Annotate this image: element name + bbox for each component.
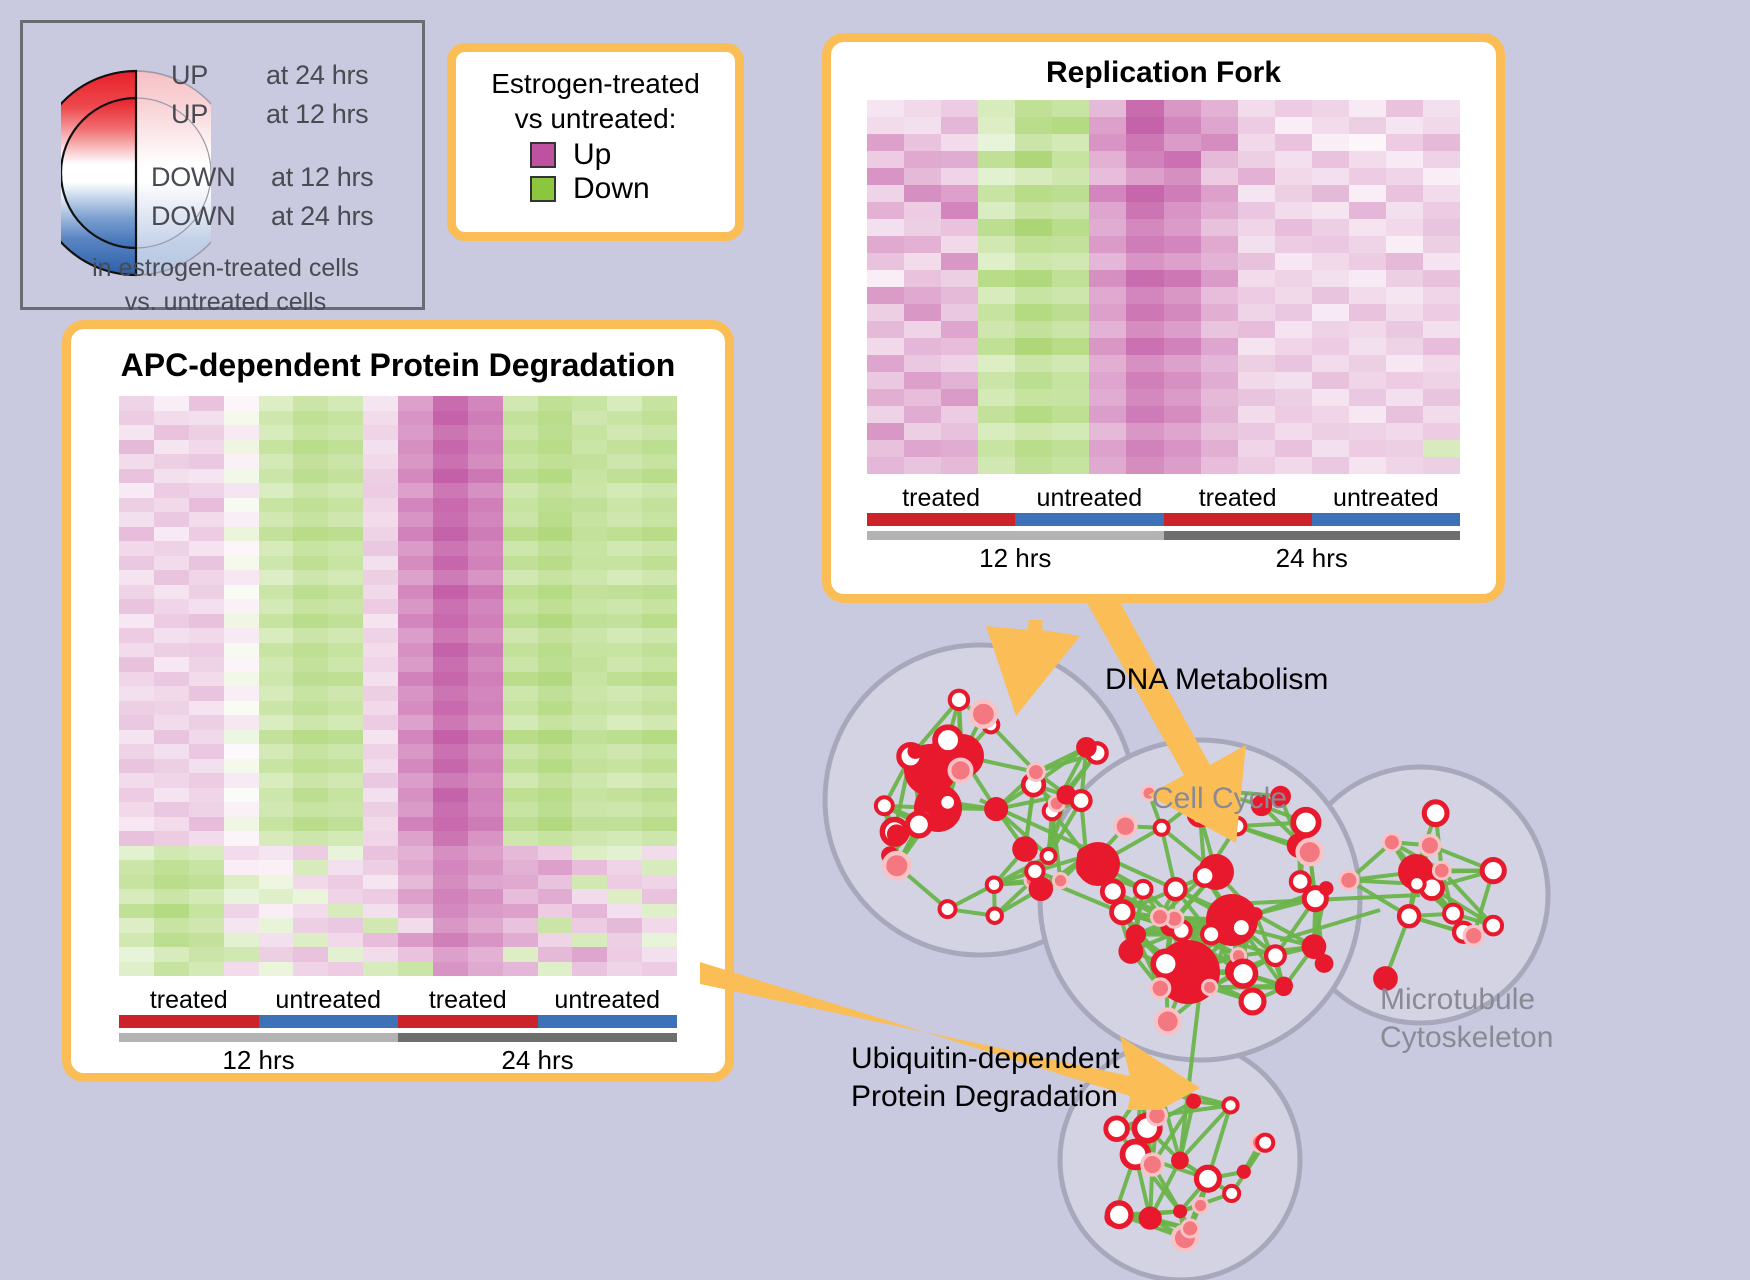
heatmap-cell — [1164, 253, 1201, 270]
network-node[interactable] — [1340, 871, 1358, 889]
network-node[interactable] — [876, 797, 893, 814]
heatmap-cell — [398, 556, 433, 571]
heatmap-cell — [503, 556, 538, 571]
heatmap-cell — [867, 168, 904, 185]
network-node[interactable] — [1166, 879, 1186, 899]
heatmap-cell — [363, 715, 398, 730]
network-node-circle[interactable] — [1182, 1220, 1199, 1237]
network-node-circle[interactable] — [988, 908, 1002, 922]
network-node[interactable] — [1196, 1167, 1219, 1190]
heatmap-cell — [468, 672, 503, 687]
heatmap-row — [119, 425, 677, 440]
heatmap-cell — [224, 962, 259, 977]
heatmap-cell — [398, 396, 433, 411]
heatmap-cell — [1423, 236, 1460, 253]
network-node[interactable] — [1053, 874, 1067, 888]
heatmap-cell — [1275, 134, 1312, 151]
heatmap-cell — [978, 151, 1015, 168]
network-node[interactable] — [1026, 863, 1043, 880]
network-node-circle[interactable] — [1166, 879, 1186, 899]
heatmap-cell — [398, 469, 433, 484]
heatmap-apc-degradation — [119, 396, 677, 976]
heatmap-cell — [978, 202, 1015, 219]
network-node[interactable] — [1139, 1207, 1162, 1230]
group-bar-treated — [398, 1015, 538, 1028]
heatmap-cell — [572, 701, 607, 716]
heatmap-cell — [398, 889, 433, 904]
heatmap-cell — [293, 440, 328, 455]
heatmap-cell — [941, 185, 978, 202]
network-node-circle[interactable] — [1424, 802, 1447, 825]
network-node-circle[interactable] — [1135, 881, 1152, 898]
heatmap-cell — [941, 355, 978, 372]
heatmap-cell — [119, 947, 154, 962]
heatmap-cell — [154, 846, 189, 861]
network-node-circle[interactable] — [1291, 872, 1310, 891]
heatmap-cell — [468, 788, 503, 803]
heatmap-cell — [468, 469, 503, 484]
heatmap-cell — [293, 773, 328, 788]
network-node-circle[interactable] — [1319, 881, 1334, 896]
network-node[interactable] — [1266, 946, 1285, 965]
heatmap-cell — [1089, 202, 1126, 219]
heatmap-cell — [328, 933, 363, 948]
heatmap-cell — [433, 628, 468, 643]
heatmap-cell — [1312, 168, 1349, 185]
network-node[interactable] — [1383, 834, 1400, 851]
heatmap-cell — [293, 628, 328, 643]
heatmap-cell — [1015, 134, 1052, 151]
network-node[interactable] — [1464, 926, 1483, 945]
heatmap-cell — [1089, 440, 1126, 457]
network-node[interactable] — [1224, 1186, 1239, 1201]
network-node[interactable] — [1102, 881, 1123, 902]
network-node-circle[interactable] — [1053, 874, 1067, 888]
network-node[interactable] — [907, 813, 930, 836]
heatmap-cell — [1312, 134, 1349, 151]
heatmap-cell — [607, 904, 642, 919]
network-node[interactable] — [1195, 866, 1215, 886]
heatmap-cell — [904, 117, 941, 134]
heatmap-cell — [978, 236, 1015, 253]
heatmap-cell — [433, 396, 468, 411]
heatmap-cell — [398, 585, 433, 600]
network-node-circle[interactable] — [1266, 946, 1285, 965]
network-node[interactable] — [1302, 934, 1327, 959]
heatmap-cell — [1052, 389, 1089, 406]
network-node[interactable] — [1248, 907, 1262, 921]
heatmap-cell — [154, 904, 189, 919]
key-time-up-24: at 24 hrs — [266, 60, 368, 91]
heatmap-cell — [1126, 117, 1163, 134]
heatmap-cell — [468, 628, 503, 643]
heatmap-cell — [293, 512, 328, 527]
heatmap-cell — [1164, 440, 1201, 457]
heatmap-cell — [224, 570, 259, 585]
heatmap-cell — [398, 744, 433, 759]
heatmap-cell — [572, 759, 607, 774]
network-node[interactable] — [950, 759, 972, 781]
heatmap-cell — [1201, 372, 1238, 389]
heatmap-cell — [1015, 338, 1052, 355]
heatmap-cell — [1126, 253, 1163, 270]
apc-time-bars — [119, 1033, 677, 1042]
heatmap-cell — [642, 686, 677, 701]
heatmap-cell — [189, 947, 224, 962]
group-bar-untreated — [1015, 513, 1163, 526]
heatmap-cell — [119, 846, 154, 861]
heatmap-cell — [538, 541, 573, 556]
network-node-circle[interactable] — [1433, 862, 1450, 879]
heatmap-cell — [259, 614, 294, 629]
network-node[interactable] — [1291, 872, 1310, 891]
network-node-circle[interactable] — [1409, 876, 1424, 891]
heatmap-cell — [224, 440, 259, 455]
heatmap-cell — [328, 498, 363, 513]
heatmap-cell — [1201, 423, 1238, 440]
network-node-circle[interactable] — [1076, 859, 1095, 878]
heatmap-cell — [1386, 202, 1423, 219]
network-node[interactable] — [1484, 917, 1502, 935]
network-node[interactable] — [940, 901, 956, 917]
heatmap-cell — [224, 599, 259, 614]
network-node-circle[interactable] — [907, 813, 930, 836]
network-node-circle[interactable] — [1195, 866, 1215, 886]
network-node-circle[interactable] — [1193, 1198, 1207, 1212]
network-node[interactable] — [1420, 836, 1440, 856]
network-node[interactable] — [1171, 1152, 1189, 1170]
heatmap-cell — [293, 643, 328, 658]
apc-group-labels: treateduntreatedtreateduntreated — [119, 986, 677, 1015]
network-node-circle[interactable] — [1171, 1152, 1189, 1170]
heatmap-cell — [1423, 151, 1460, 168]
heatmap-cell — [293, 831, 328, 846]
heatmap-cell — [328, 730, 363, 745]
network-node[interactable] — [884, 853, 909, 878]
heatmap-cell — [468, 541, 503, 556]
heatmap-cell — [642, 672, 677, 687]
heatmap-cell — [189, 527, 224, 542]
heatmap-cell — [363, 918, 398, 933]
network-node[interactable] — [1135, 881, 1152, 898]
network-node[interactable] — [1409, 876, 1424, 891]
heatmap-cell — [119, 585, 154, 600]
heatmap-cell — [572, 599, 607, 614]
heatmap-cell — [538, 527, 573, 542]
network-node-circle[interactable] — [950, 759, 972, 781]
heatmap-cell — [119, 672, 154, 687]
heatmap-row — [867, 440, 1460, 457]
network-node-circle[interactable] — [939, 794, 956, 811]
network-node-circle[interactable] — [987, 877, 1002, 892]
heatmap-cell — [189, 570, 224, 585]
heatmap-cell — [1052, 270, 1089, 287]
heatmap-cell — [259, 875, 294, 890]
heatmap-cell — [642, 817, 677, 832]
network-node-circle[interactable] — [1142, 1154, 1163, 1175]
network-node[interactable] — [907, 743, 923, 759]
network-node[interactable] — [1152, 908, 1169, 925]
heatmap-cell — [189, 483, 224, 498]
network-node-circle[interactable] — [884, 853, 909, 878]
heatmap-cell — [433, 527, 468, 542]
heatmap-cell — [468, 440, 503, 455]
heatmap-cell — [1052, 151, 1089, 168]
heatmap-cell — [1312, 321, 1349, 338]
heatmap-cell — [398, 846, 433, 861]
heatmap-cell — [1386, 134, 1423, 151]
heatmap-cell — [468, 889, 503, 904]
network-node[interactable] — [971, 701, 996, 726]
network-node[interactable] — [988, 908, 1002, 922]
heatmap-cell — [1089, 185, 1126, 202]
heatmap-cell — [468, 875, 503, 890]
heatmap-cell — [1275, 270, 1312, 287]
heatmap-cell — [224, 918, 259, 933]
heatmap-row — [867, 117, 1460, 134]
heatmap-cell — [154, 396, 189, 411]
heatmap-cell — [607, 918, 642, 933]
network-node[interactable] — [1107, 1203, 1131, 1227]
heatmap-cell — [1275, 372, 1312, 389]
network-node[interactable] — [935, 727, 961, 753]
network-node[interactable] — [1433, 862, 1450, 879]
heatmap-cell — [572, 411, 607, 426]
heatmap-cell — [1238, 100, 1275, 117]
network-node[interactable] — [1444, 905, 1462, 923]
heatmap-cell — [328, 599, 363, 614]
heatmap-cell — [189, 425, 224, 440]
heatmap-cell — [468, 904, 503, 919]
heatmap-cell — [328, 817, 363, 832]
heatmap-cell — [538, 701, 573, 716]
network-node-circle[interactable] — [1107, 1203, 1131, 1227]
heatmap-cell — [363, 411, 398, 426]
network-node-circle[interactable] — [1302, 934, 1327, 959]
heatmap-cell — [867, 100, 904, 117]
network-node-circle[interactable] — [1112, 901, 1133, 922]
color-key-footer-line1: in estrogen-treated cells — [23, 251, 428, 285]
heatmap-cell — [398, 541, 433, 556]
heatmap-cell — [433, 904, 468, 919]
heatmap-cell — [904, 457, 941, 474]
heatmap-cell — [867, 236, 904, 253]
network-node-circle[interactable] — [1196, 1167, 1219, 1190]
heatmap-cell — [1238, 134, 1275, 151]
heatmap-cell — [1201, 134, 1238, 151]
heatmap-row — [119, 556, 677, 571]
network-node[interactable] — [1257, 1135, 1273, 1151]
estrogen-legend-box: Estrogen-treated vs untreated: Up Down — [447, 43, 744, 241]
heatmap-cell — [572, 483, 607, 498]
heatmap-cell — [1164, 270, 1201, 287]
heatmap-cell — [328, 860, 363, 875]
network-node-circle[interactable] — [1420, 836, 1440, 856]
heatmap-cell — [433, 411, 468, 426]
network-node-circle[interactable] — [950, 691, 968, 709]
heatmap-cell — [1052, 406, 1089, 423]
heatmap-cell — [607, 585, 642, 600]
network-node[interactable] — [1275, 977, 1293, 995]
heatmap-cell — [433, 744, 468, 759]
heatmap-cell — [259, 730, 294, 745]
heatmap-cell — [1275, 100, 1312, 117]
network-node[interactable] — [1237, 1165, 1251, 1179]
heatmap-cell — [119, 440, 154, 455]
heatmap-cell — [1015, 406, 1052, 423]
network-node-circle[interactable] — [1464, 926, 1483, 945]
heatmap-cell — [572, 512, 607, 527]
network-node[interactable] — [987, 877, 1002, 892]
heatmap-row — [119, 498, 677, 513]
network-node[interactable] — [1112, 901, 1133, 922]
network-node[interactable] — [1424, 802, 1447, 825]
heatmap-cell — [1052, 372, 1089, 389]
network-node-circle[interactable] — [1102, 881, 1123, 902]
network-node-circle[interactable] — [935, 727, 961, 753]
heatmap-cell — [224, 527, 259, 542]
heatmap-cell — [1275, 423, 1312, 440]
key-label-down-24: DOWN — [151, 201, 235, 232]
heatmap-cell — [154, 860, 189, 875]
network-node-circle[interactable] — [887, 824, 906, 843]
network-node-circle[interactable] — [1399, 906, 1419, 926]
network-node[interactable] — [950, 691, 968, 709]
network-node-circle[interactable] — [1257, 1135, 1273, 1151]
network-node-circle[interactable] — [1237, 1165, 1251, 1179]
heatmap-row — [867, 151, 1460, 168]
heatmap-cell — [293, 454, 328, 469]
network-node-circle[interactable] — [1248, 907, 1262, 921]
heatmap-cell — [259, 817, 294, 832]
heatmap-cell — [904, 423, 941, 440]
heatmap-cell — [1423, 423, 1460, 440]
network-node[interactable] — [1106, 1118, 1128, 1140]
network-node[interactable] — [887, 824, 906, 843]
heatmap-cell — [189, 454, 224, 469]
network-node-circle[interactable] — [1444, 905, 1462, 923]
heatmap-cell — [398, 527, 433, 542]
network-node-circle[interactable] — [1139, 1207, 1162, 1230]
network-node[interactable] — [1319, 881, 1334, 896]
network-node[interactable] — [1076, 859, 1095, 878]
heatmap-cell — [433, 701, 468, 716]
heatmap-cell — [978, 406, 1015, 423]
network-node[interactable] — [939, 794, 956, 811]
network-node-circle[interactable] — [1106, 1118, 1128, 1140]
network-node[interactable] — [984, 797, 1008, 821]
group-bar-treated — [867, 513, 1015, 526]
heatmap-cell — [189, 585, 224, 600]
network-node-circle[interactable] — [984, 797, 1008, 821]
network-node-circle[interactable] — [876, 797, 893, 814]
heatmap-cell — [468, 962, 503, 977]
network-node-circle[interactable] — [907, 743, 923, 759]
replication-group-bars — [867, 513, 1460, 526]
heatmap-cell — [642, 556, 677, 571]
heatmap-cell — [119, 904, 154, 919]
heatmap-cell — [154, 831, 189, 846]
network-node-circle[interactable] — [1482, 860, 1504, 882]
heatmap-cell — [259, 918, 294, 933]
heatmap-cell — [1386, 423, 1423, 440]
heatmap-cell — [1126, 151, 1163, 168]
heatmap-row — [119, 701, 677, 716]
network-node-circle[interactable] — [1026, 863, 1043, 880]
heatmap-cell — [572, 846, 607, 861]
heatmap-cell — [1164, 202, 1201, 219]
heatmap-cell — [363, 483, 398, 498]
network-node[interactable] — [1193, 1198, 1207, 1212]
network-node-circle[interactable] — [971, 701, 996, 726]
heatmap-cell — [1423, 168, 1460, 185]
heatmap-cell — [468, 454, 503, 469]
heatmap-cell — [867, 304, 904, 321]
heatmap-cell — [363, 556, 398, 571]
heatmap-cell — [433, 483, 468, 498]
heatmap-cell — [433, 831, 468, 846]
network-node-circle[interactable] — [1275, 977, 1293, 995]
heatmap-cell — [293, 817, 328, 832]
network-node[interactable] — [1399, 906, 1419, 926]
heatmap-cell — [1423, 355, 1460, 372]
color-key-footer: in estrogen-treated cells vs. untreated … — [23, 251, 428, 319]
heatmap-cell — [941, 440, 978, 457]
network-node-circle[interactable] — [1173, 1204, 1187, 1218]
heatmap-cell — [468, 918, 503, 933]
heatmap-cell — [538, 831, 573, 846]
network-node-circle[interactable] — [1152, 908, 1169, 925]
heatmap-cell — [224, 860, 259, 875]
heatmap-cell — [538, 788, 573, 803]
heatmap-cell — [941, 236, 978, 253]
heatmap-cell — [607, 440, 642, 455]
heatmap-cell — [189, 817, 224, 832]
network-node-circle[interactable] — [1224, 1186, 1239, 1201]
heatmap-cell — [259, 744, 294, 759]
heatmap-cell — [1312, 117, 1349, 134]
heatmap-cell — [154, 454, 189, 469]
heatmap-cell — [1164, 100, 1201, 117]
heatmap-cell — [941, 270, 978, 287]
heatmap-cell — [978, 168, 1015, 185]
network-node[interactable] — [1482, 860, 1504, 882]
heatmap-cell — [1275, 253, 1312, 270]
heatmap-cell — [1015, 321, 1052, 338]
network-node[interactable] — [1173, 1204, 1187, 1218]
network-node[interactable] — [1142, 1154, 1163, 1175]
network-node-circle[interactable] — [1340, 871, 1358, 889]
heatmap-cell — [607, 875, 642, 890]
heatmap-cell — [468, 773, 503, 788]
network-node-circle[interactable] — [940, 901, 956, 917]
heatmap-cell — [607, 962, 642, 977]
network-node-circle[interactable] — [1484, 917, 1502, 935]
heatmap-cell — [1201, 338, 1238, 355]
heatmap-cell — [1386, 287, 1423, 304]
network-node[interactable] — [1182, 1220, 1199, 1237]
heatmap-cell — [154, 527, 189, 542]
network-node-circle[interactable] — [1383, 834, 1400, 851]
heatmap-cell — [904, 185, 941, 202]
heatmap-row — [119, 817, 677, 832]
heatmap-cell — [119, 483, 154, 498]
heatmap-cell — [1349, 389, 1386, 406]
heatmap-cell — [1423, 338, 1460, 355]
heatmap-cell — [119, 773, 154, 788]
heatmap-cell — [1238, 304, 1275, 321]
heatmap-cell — [538, 570, 573, 585]
